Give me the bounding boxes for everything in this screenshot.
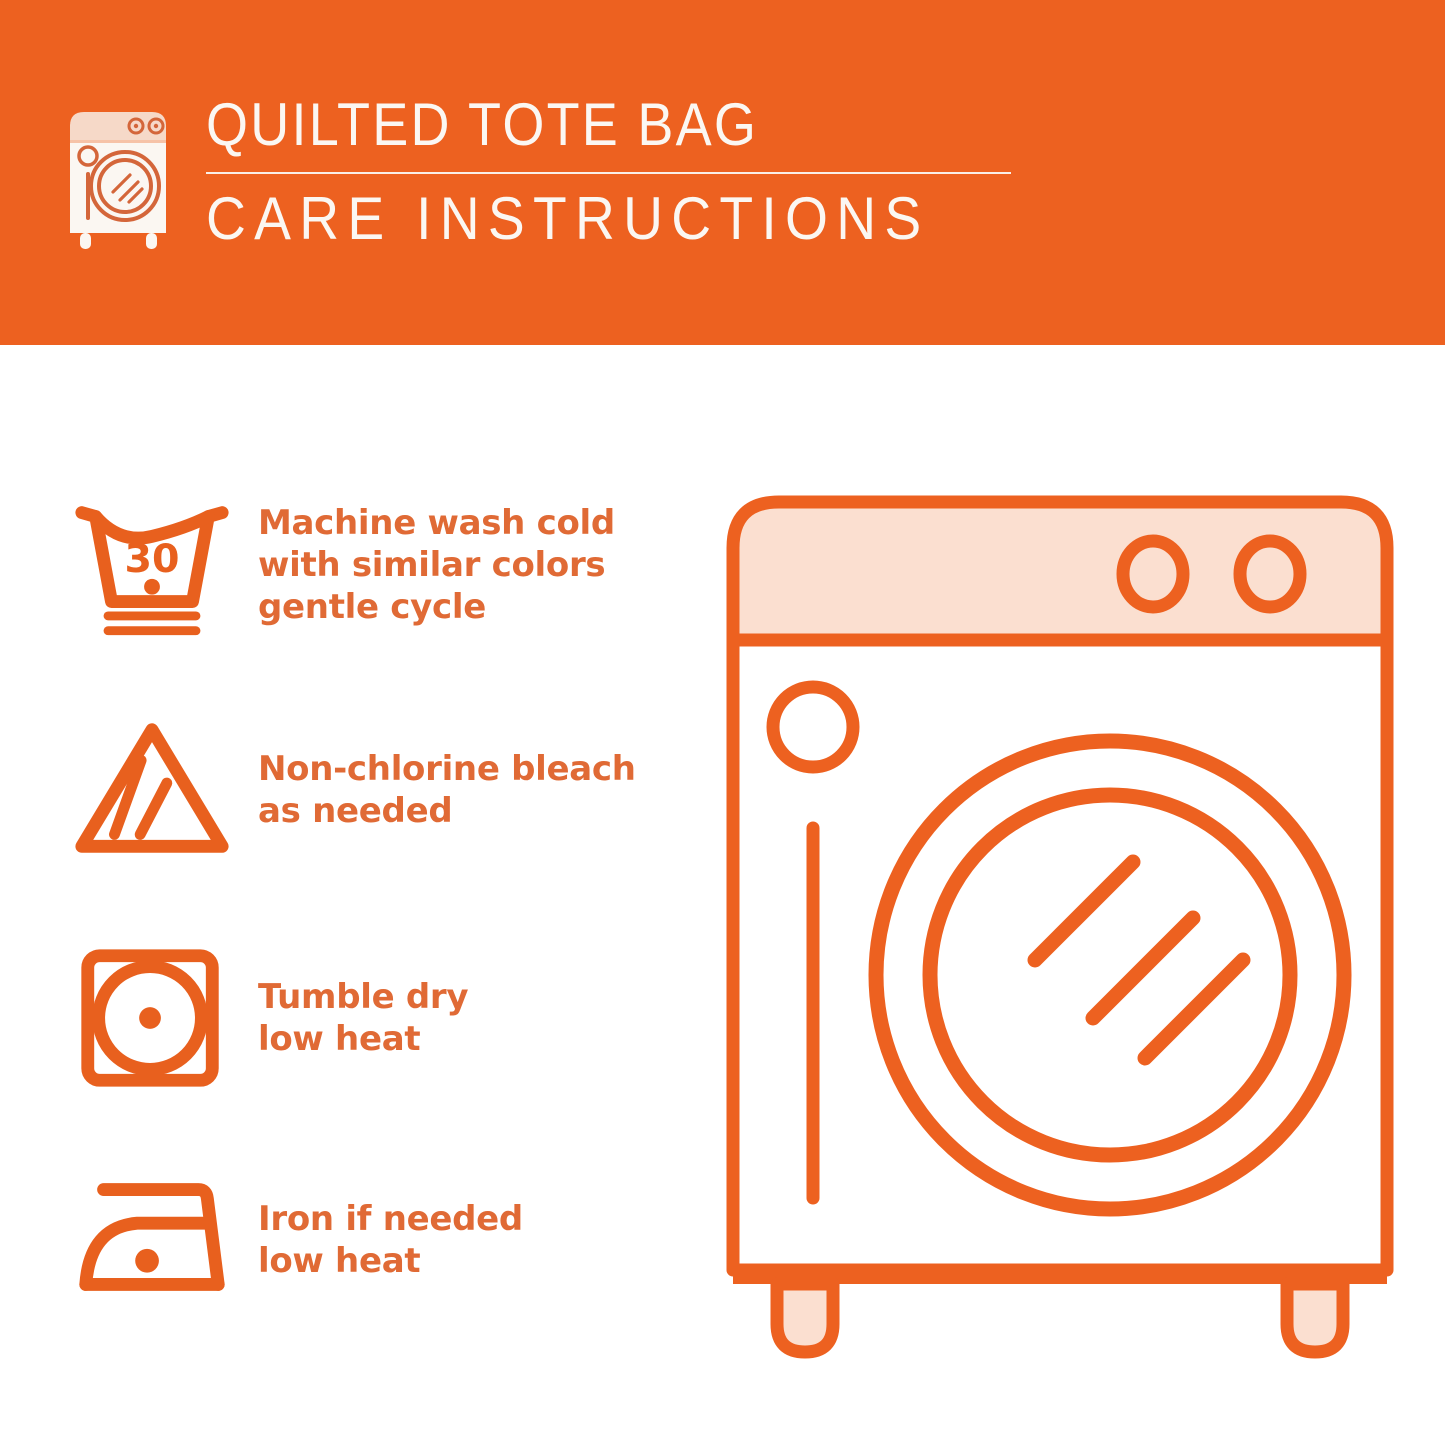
- leg-right: [1287, 1284, 1343, 1352]
- leg-left: [777, 1284, 833, 1352]
- list-item-bleach: Non-chlorine bleach as needed: [68, 715, 688, 865]
- list-item-label: Non-chlorine bleach as needed: [258, 748, 636, 832]
- svg-text:30: 30: [125, 536, 180, 582]
- list-item-wash: 30 Machine wash cold with similar colors…: [68, 490, 688, 640]
- title-divider: [206, 172, 1011, 174]
- list-item-label: Tumble dry low heat: [258, 976, 468, 1060]
- large-washing-machine-illustration: [715, 480, 1405, 1380]
- page-title: QUILTED TOTE BAG: [206, 94, 931, 156]
- tumble-dry-low-heat-icon: [68, 943, 236, 1093]
- care-instructions-page: QUILTED TOTE BAG CARE INSTRUCTIONS 30: [0, 0, 1445, 1445]
- page-subtitle: CARE INSTRUCTIONS: [206, 188, 947, 250]
- header-title-block: QUILTED TOTE BAG CARE INSTRUCTIONS: [206, 92, 1011, 250]
- list-item-label: Iron if needed low heat: [258, 1198, 523, 1282]
- washing-machine-icon: [62, 96, 174, 256]
- header-content: QUILTED TOTE BAG CARE INSTRUCTIONS: [62, 92, 1011, 256]
- wash-tub-30-gentle-icon: 30: [68, 490, 236, 640]
- iron-low-heat-icon: [68, 1165, 236, 1315]
- non-chlorine-bleach-triangle-icon: [68, 715, 236, 865]
- list-item-tumble-dry: Tumble dry low heat: [68, 943, 688, 1093]
- list-item-iron: Iron if needed low heat: [68, 1165, 688, 1315]
- list-item-label: Machine wash cold with similar colors ge…: [258, 502, 615, 628]
- instructions-list: 30 Machine wash cold with similar colors…: [0, 345, 700, 1445]
- control-panel: [733, 502, 1387, 640]
- header-banner: QUILTED TOTE BAG CARE INSTRUCTIONS: [0, 0, 1445, 345]
